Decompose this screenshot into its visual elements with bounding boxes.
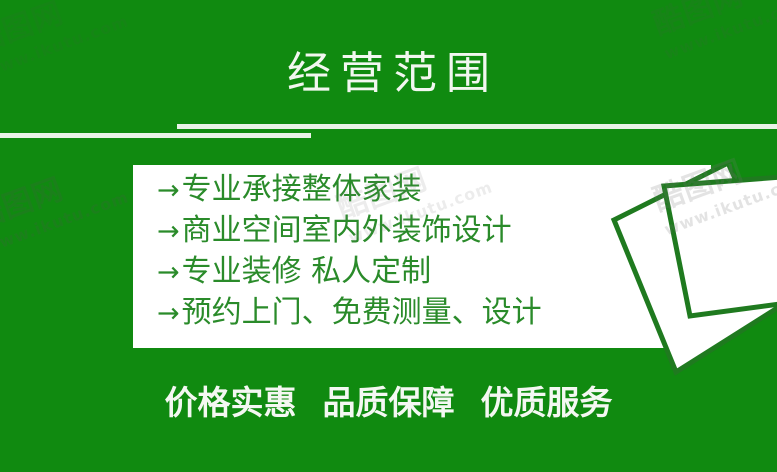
list-item-label: 专业装修 私人定制 <box>182 254 432 289</box>
arrow-icon: → <box>157 253 180 293</box>
footer-item-service: 优质服务 <box>481 383 613 422</box>
watermark-brand: 酷图网 <box>646 0 748 43</box>
poster-canvas: 经营范围 →专业承接整体家装 →商业空间室内外装饰设计 →专业装修 私人定制 →… <box>0 0 777 472</box>
services-list: →专业承接整体家装 →商业空间室内外装饰设计 →专业装修 私人定制 →预约上门、… <box>157 170 717 334</box>
watermark-url: www.ikutu.com <box>0 187 131 257</box>
list-item: →专业承接整体家装 <box>157 170 717 211</box>
list-item-label: 预约上门、免费测量、设计 <box>182 295 542 330</box>
watermark: 酷图网 www.ikutu.com <box>0 144 131 257</box>
list-item-label: 商业空间室内外装饰设计 <box>182 213 512 248</box>
footer-item-quality: 品质保障 <box>323 383 455 422</box>
footer-item-price: 价格实惠 <box>165 383 297 422</box>
list-item-label: 专业承接整体家装 <box>182 172 422 207</box>
list-item: →商业空间室内外装饰设计 <box>157 211 717 252</box>
list-item: →专业装修 私人定制 <box>157 252 717 293</box>
footer-slogan: 价格实惠品质保障优质服务 <box>0 381 777 425</box>
upper-divider-rule <box>177 124 777 129</box>
arrow-icon: → <box>157 171 180 211</box>
lower-divider-rule <box>0 133 311 138</box>
watermark-brand: 酷图网 <box>0 164 68 237</box>
list-item: →预约上门、免费测量、设计 <box>157 293 717 334</box>
arrow-icon: → <box>157 212 180 252</box>
page-title: 经营范围 <box>0 47 777 101</box>
arrow-icon: → <box>157 294 180 334</box>
